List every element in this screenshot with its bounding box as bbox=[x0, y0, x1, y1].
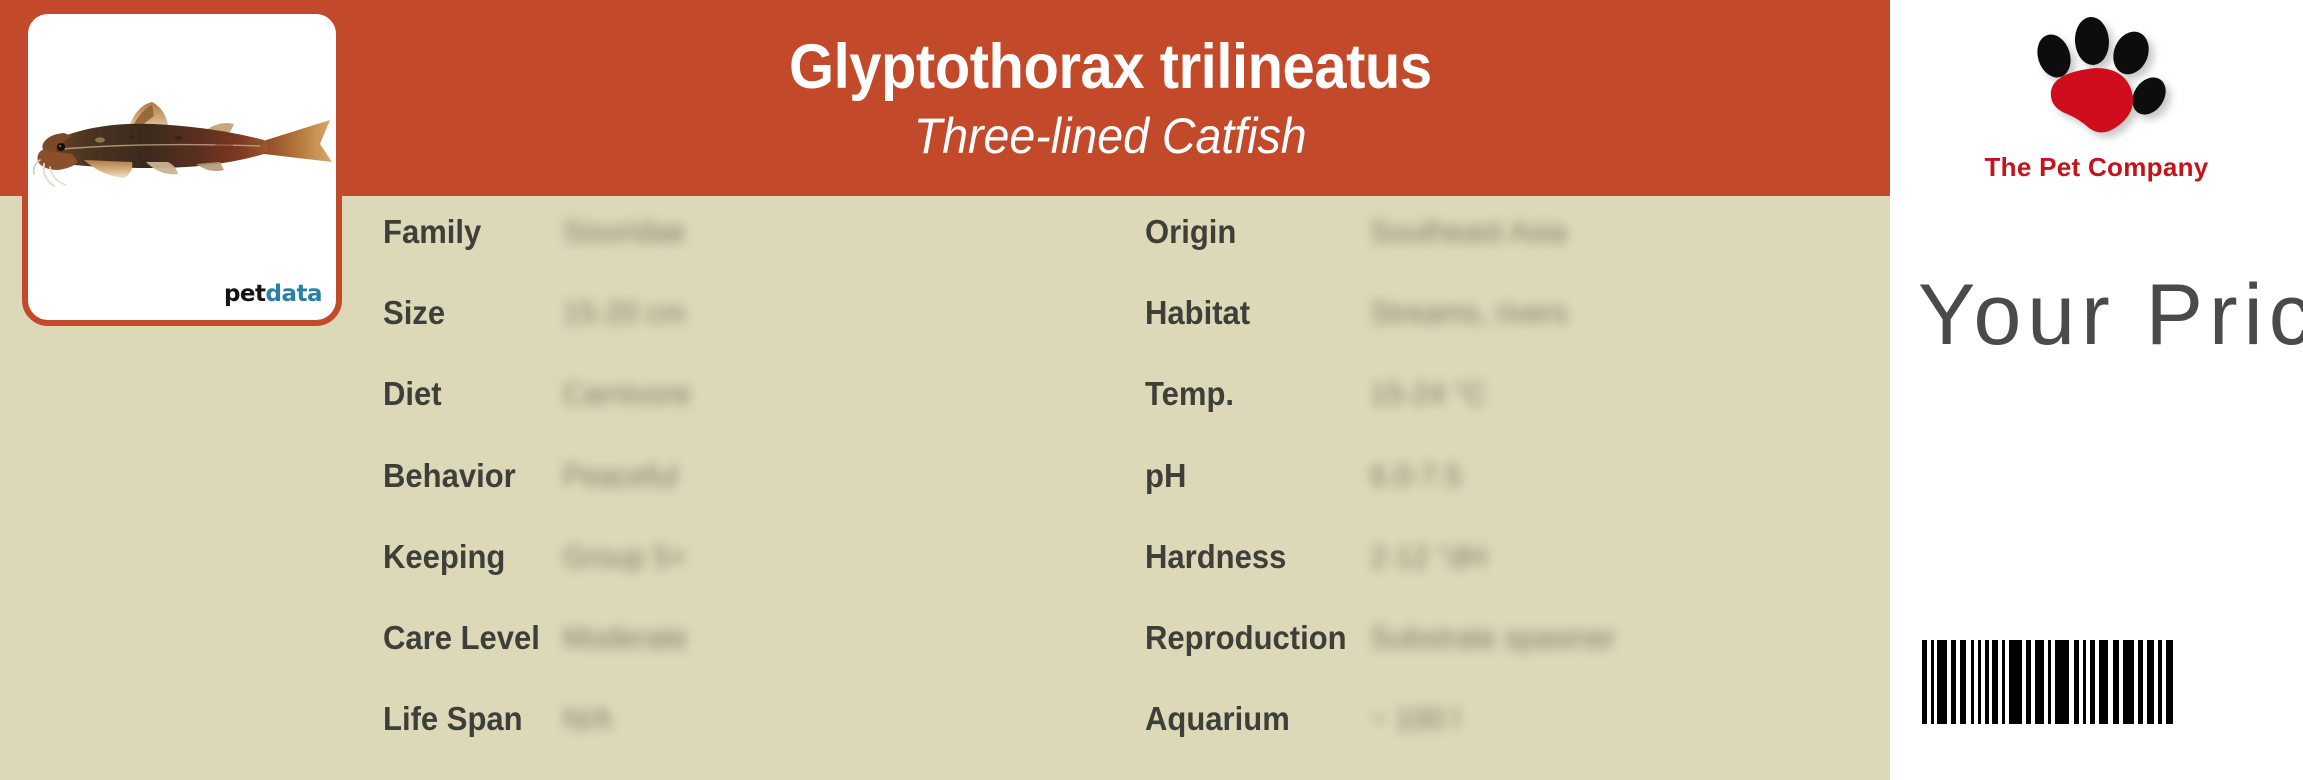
barcode-bar bbox=[2099, 640, 2108, 724]
spec-value: 6.0-7.5 bbox=[1370, 458, 1462, 494]
barcode-bar bbox=[2055, 640, 2069, 724]
spec-row-habitat: HabitatStreams, rivers bbox=[1145, 292, 1845, 334]
spec-label: Habitat bbox=[1145, 294, 1250, 332]
spec-label: Diet bbox=[383, 375, 442, 413]
barcode bbox=[1922, 640, 2262, 724]
barcode-bar bbox=[2009, 640, 2022, 724]
spec-label: Care Level bbox=[383, 619, 540, 657]
spec-label: Temp. bbox=[1145, 375, 1234, 413]
catfish-photo-image bbox=[28, 92, 336, 202]
spec-label: pH bbox=[1145, 457, 1186, 495]
spec-label: Origin bbox=[1145, 213, 1236, 251]
info-panel: Glyptothorax trilineatus Three-lined Cat… bbox=[0, 0, 1890, 780]
spec-value: Peaceful bbox=[563, 458, 678, 494]
spec-row-behavior: BehaviorPeaceful bbox=[383, 455, 1103, 497]
spec-value: N/A bbox=[563, 701, 612, 737]
spec-label: Aquarium bbox=[1145, 700, 1290, 738]
spec-row-keeping: KeepingGroup 5+ bbox=[383, 536, 1103, 578]
species-spec-grid: FamilySisoridaeSize15-20 cmDietCarnivore… bbox=[0, 196, 1890, 780]
barcode-bar bbox=[2166, 640, 2173, 724]
spec-row-diet: DietCarnivore bbox=[383, 373, 1103, 415]
spec-row-origin: OriginSoutheast Asia bbox=[1145, 211, 1845, 253]
header-title-block: Glyptothorax trilineatus Three-lined Cat… bbox=[330, 0, 1890, 196]
spec-label: Hardness bbox=[1145, 538, 1286, 576]
spec-value: Group 5+ bbox=[563, 539, 687, 575]
spec-row-life-span: Life SpanN/A bbox=[383, 698, 1103, 740]
spec-column-right: OriginSoutheast AsiaHabitatStreams, rive… bbox=[1145, 196, 1845, 780]
brand-logo: The Pet Company bbox=[1890, 8, 2303, 198]
spec-value: Substrate spawner bbox=[1370, 620, 1616, 656]
barcode-bar bbox=[2147, 640, 2154, 724]
spec-row-size: Size15-20 cm bbox=[383, 292, 1103, 334]
species-common-name: Three-lined Catfish bbox=[914, 111, 1307, 161]
spec-label: Reproduction bbox=[1145, 619, 1347, 657]
species-scientific-name: Glyptothorax trilineatus bbox=[789, 36, 1432, 99]
spec-value: ~ 100 l bbox=[1370, 701, 1459, 737]
price-panel: The Pet Company Your Price bbox=[1890, 0, 2303, 780]
spec-value: 15-20 cm bbox=[563, 295, 686, 331]
spec-label: Life Span bbox=[383, 700, 523, 738]
spec-value: Streams, rivers bbox=[1370, 295, 1568, 331]
spec-row-ph: pH6.0-7.5 bbox=[1145, 455, 1845, 497]
brand-name-text: The Pet Company bbox=[1890, 152, 2303, 183]
spec-value: 2-12 °dH bbox=[1370, 539, 1487, 575]
spec-value: Sisoridae bbox=[563, 214, 686, 250]
spec-label: Size bbox=[383, 294, 445, 332]
spec-value: Carnivore bbox=[563, 376, 691, 412]
pet-shop-species-label: Glyptothorax trilineatus Three-lined Cat… bbox=[0, 0, 2303, 780]
spec-row-care-level: Care LevelModerate bbox=[383, 617, 1103, 659]
spec-label: Behavior bbox=[383, 457, 516, 495]
spec-row-hardness: Hardness2-12 °dH bbox=[1145, 536, 1845, 578]
barcode-bar bbox=[1937, 640, 1947, 724]
paw-print-icon bbox=[1997, 8, 2197, 148]
barcode-bar bbox=[2035, 640, 2044, 724]
spec-label: Family bbox=[383, 213, 481, 251]
spec-value: Moderate bbox=[563, 620, 687, 656]
spec-column-left: FamilySisoridaeSize15-20 cmDietCarnivore… bbox=[383, 196, 1103, 780]
spec-row-family: FamilySisoridae bbox=[383, 211, 1103, 253]
barcode-bar bbox=[2123, 640, 2134, 724]
spec-row-temp: Temp.15-24 °C bbox=[1145, 373, 1845, 415]
spec-value: 15-24 °C bbox=[1370, 376, 1487, 412]
spec-row-reproduction: ReproductionSubstrate spawner bbox=[1145, 617, 1845, 659]
spec-row-aquarium: Aquarium~ 100 l bbox=[1145, 698, 1845, 740]
spec-value: Southeast Asia bbox=[1370, 214, 1566, 250]
spec-label: Keeping bbox=[383, 538, 505, 576]
your-price-heading: Your Price bbox=[1918, 272, 2303, 358]
